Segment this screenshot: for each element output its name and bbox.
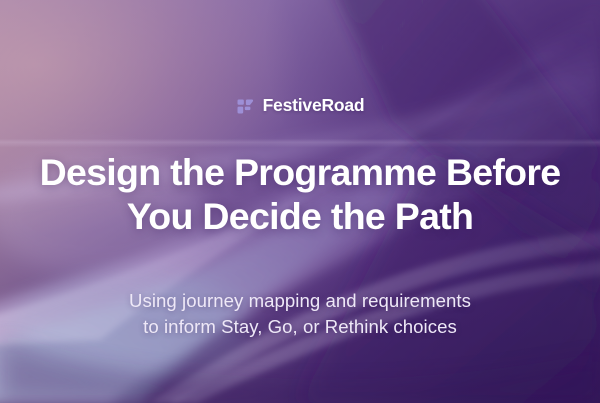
brand-lockup: FestiveRoad — [236, 94, 365, 118]
brand-name: FestiveRoad — [263, 97, 365, 115]
slide-content: FestiveRoad Design the Programme Before … — [0, 0, 600, 403]
page-title: Design the Programme Before You Decide t… — [30, 151, 570, 239]
page-subtitle-line-1: Using journey mapping and requirements — [65, 288, 535, 314]
festiveroad-logo-mark-icon — [236, 97, 255, 116]
page-subtitle-line-2: to inform Stay, Go, or Rethink choices — [65, 314, 535, 340]
title-slide: FestiveRoad Design the Programme Before … — [0, 0, 600, 403]
page-title-line-2: You Decide the Path — [30, 195, 570, 239]
page-subtitle: Using journey mapping and requirements t… — [65, 288, 535, 341]
page-title-line-1: Design the Programme Before — [30, 151, 570, 195]
